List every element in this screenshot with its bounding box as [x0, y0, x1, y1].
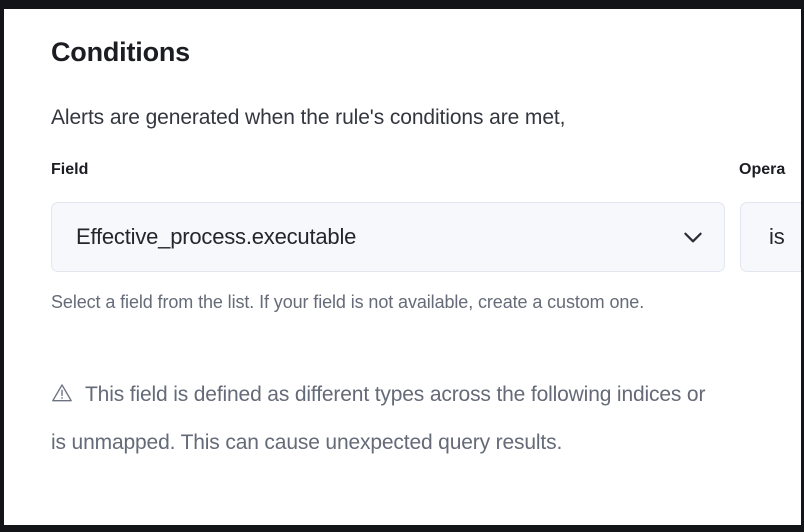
page-title: Conditions	[51, 37, 190, 68]
chevron-down-icon[interactable]	[680, 224, 706, 250]
field-select[interactable]: Effective_process.executable	[51, 202, 725, 272]
operator-label: Opera	[739, 161, 785, 179]
field-type-warning: This field is defined as different types…	[51, 371, 711, 467]
field-label: Field	[51, 161, 88, 179]
section-description: Alerts are generated when the rule's con…	[51, 106, 565, 130]
operator-select-value: is	[769, 224, 785, 250]
content-viewport: Conditions Alerts are generated when the…	[4, 9, 801, 525]
warning-triangle-icon	[51, 382, 73, 404]
screenshot-frame: Conditions Alerts are generated when the…	[0, 0, 804, 532]
field-select-value: Effective_process.executable	[76, 224, 356, 250]
operator-select[interactable]: is	[740, 202, 801, 272]
field-helper-text: Select a field from the list. If your fi…	[51, 287, 691, 318]
field-type-warning-text: This field is defined as different types…	[51, 383, 705, 454]
